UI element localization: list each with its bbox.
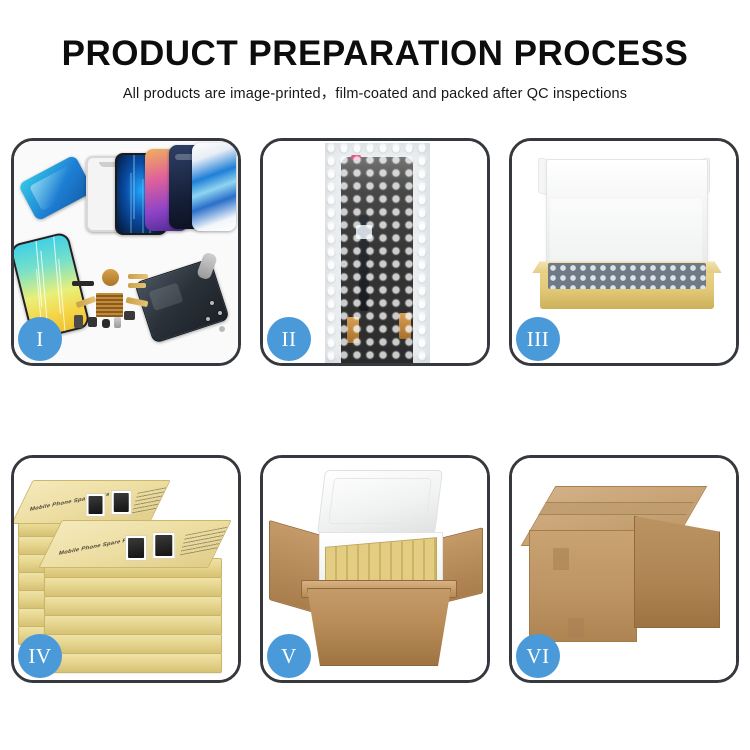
small-component-icon — [102, 319, 110, 328]
box-product-photo — [86, 493, 106, 517]
step-panel-2: II — [260, 138, 490, 366]
bubble-wrapped-contents-icon — [548, 263, 706, 289]
step-panel-1: I — [11, 138, 241, 366]
connector-tab-icon — [399, 313, 411, 339]
step-badge-5: V — [267, 634, 311, 678]
box-lid-top: Mobile Phone Spare Parts — [38, 520, 231, 568]
header: PRODUCT PREPARATION PROCESS All products… — [0, 0, 750, 103]
tape-tab-icon — [553, 548, 569, 570]
camera-module-icon — [124, 311, 135, 320]
step-panel-6: VI — [509, 455, 739, 683]
screw-icon — [218, 311, 222, 315]
earpiece-mesh-icon — [72, 281, 94, 286]
small-component-icon — [88, 317, 97, 327]
steps-grid: I II — [11, 138, 739, 683]
adhesive-sticker-icon — [18, 154, 94, 221]
step-badge-3: III — [516, 317, 560, 361]
striped-display-icon — [192, 143, 236, 231]
contact-pad-icon — [96, 293, 123, 317]
flex-cable-icon — [128, 274, 148, 279]
step-panel-3: III — [509, 138, 739, 366]
step-badge-4: IV — [18, 634, 62, 678]
box-slab — [44, 653, 222, 673]
box-slab — [44, 577, 222, 597]
screen-flex-cable-icon — [359, 215, 369, 311]
speaker-coil-icon — [102, 269, 119, 286]
packing-tape-icon — [538, 502, 694, 515]
metal-bracket-icon — [114, 317, 121, 328]
carton-side-face-icon — [634, 516, 720, 628]
connector-tab-icon — [347, 317, 359, 343]
step-badge-6: VI — [516, 634, 560, 678]
product-preparation-infographic: PRODUCT PREPARATION PROCESS All products… — [0, 0, 750, 750]
carton-body-icon — [307, 588, 451, 666]
step-badge-1: I — [18, 317, 62, 361]
box-slab — [44, 615, 222, 635]
box-slab — [44, 596, 222, 616]
box-product-photo — [111, 490, 132, 515]
phone-backplate-icon — [134, 258, 230, 344]
screw-icon — [210, 301, 214, 305]
tape-tab-icon — [568, 618, 584, 638]
box-spec-text-lines — [131, 484, 171, 517]
screw-icon — [220, 327, 224, 331]
step-badge-2: II — [267, 317, 311, 361]
box-product-photo — [152, 532, 175, 559]
foam-lid-icon — [317, 470, 443, 534]
page-title: PRODUCT PREPARATION PROCESS — [0, 36, 750, 73]
small-component-icon — [74, 315, 83, 328]
step-panel-4: Mobile Phone Spare Parts Mobile Phone Sp… — [11, 455, 241, 683]
box-slab — [44, 634, 222, 654]
screw-icon — [206, 317, 210, 321]
step-panel-5: V — [260, 455, 490, 683]
box-spec-text-lines — [179, 526, 232, 559]
box-lid-top: Mobile Phone Spare Parts — [14, 480, 171, 524]
page-subtitle: All products are image-printed，film-coat… — [0, 82, 750, 103]
flex-cable-icon — [128, 283, 146, 288]
box-product-photo — [125, 535, 147, 561]
